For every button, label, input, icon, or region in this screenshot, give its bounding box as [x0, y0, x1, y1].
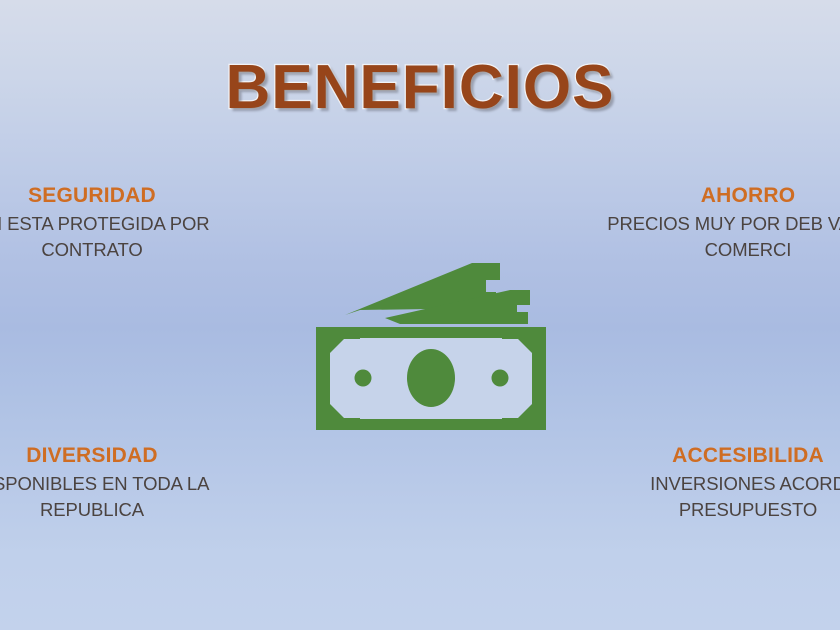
benefit-body-ahorro: PRECIOS MUY POR DEB VALOR COMERCI: [598, 211, 840, 264]
money-center-oval: [407, 349, 455, 407]
benefit-body-seguridad: ON ESTA PROTEGIDA POR CONTRATO: [0, 211, 242, 264]
benefit-heading-seguridad: SEGURIDAD: [0, 184, 242, 208]
benefit-heading-accesibilidad: ACCESIBILIDA: [598, 444, 840, 468]
page-title: BENEFICIOS: [226, 52, 615, 123]
benefit-block-diversidad: DIVERSIDAD DISPONIBLES EN TODA LA REPUBL…: [0, 444, 242, 524]
benefit-body-accesibilidad: INVERSIONES ACORD PRESUPUESTO: [598, 471, 840, 524]
benefit-block-accesibilidad: ACCESIBILIDA INVERSIONES ACORD PRESUPUES…: [598, 444, 840, 524]
benefit-block-ahorro: AHORRO PRECIOS MUY POR DEB VALOR COMERCI: [598, 184, 840, 264]
benefit-body-diversidad: DISPONIBLES EN TODA LA REPUBLICA: [0, 471, 242, 524]
benefit-block-seguridad: SEGURIDAD ON ESTA PROTEGIDA POR CONTRATO: [0, 184, 242, 264]
benefit-heading-ahorro: AHORRO: [598, 184, 840, 208]
money-banknote-icon: [300, 250, 562, 440]
benefit-heading-diversidad: DIVERSIDAD: [0, 444, 242, 468]
slide-canvas: BENEFICIOS SEGURIDAD ON ESTA PROTEGIDA P…: [0, 0, 840, 630]
page-title-container: BENEFICIOS: [0, 52, 840, 123]
money-right-dot: [492, 370, 509, 387]
money-left-dot: [355, 370, 372, 387]
